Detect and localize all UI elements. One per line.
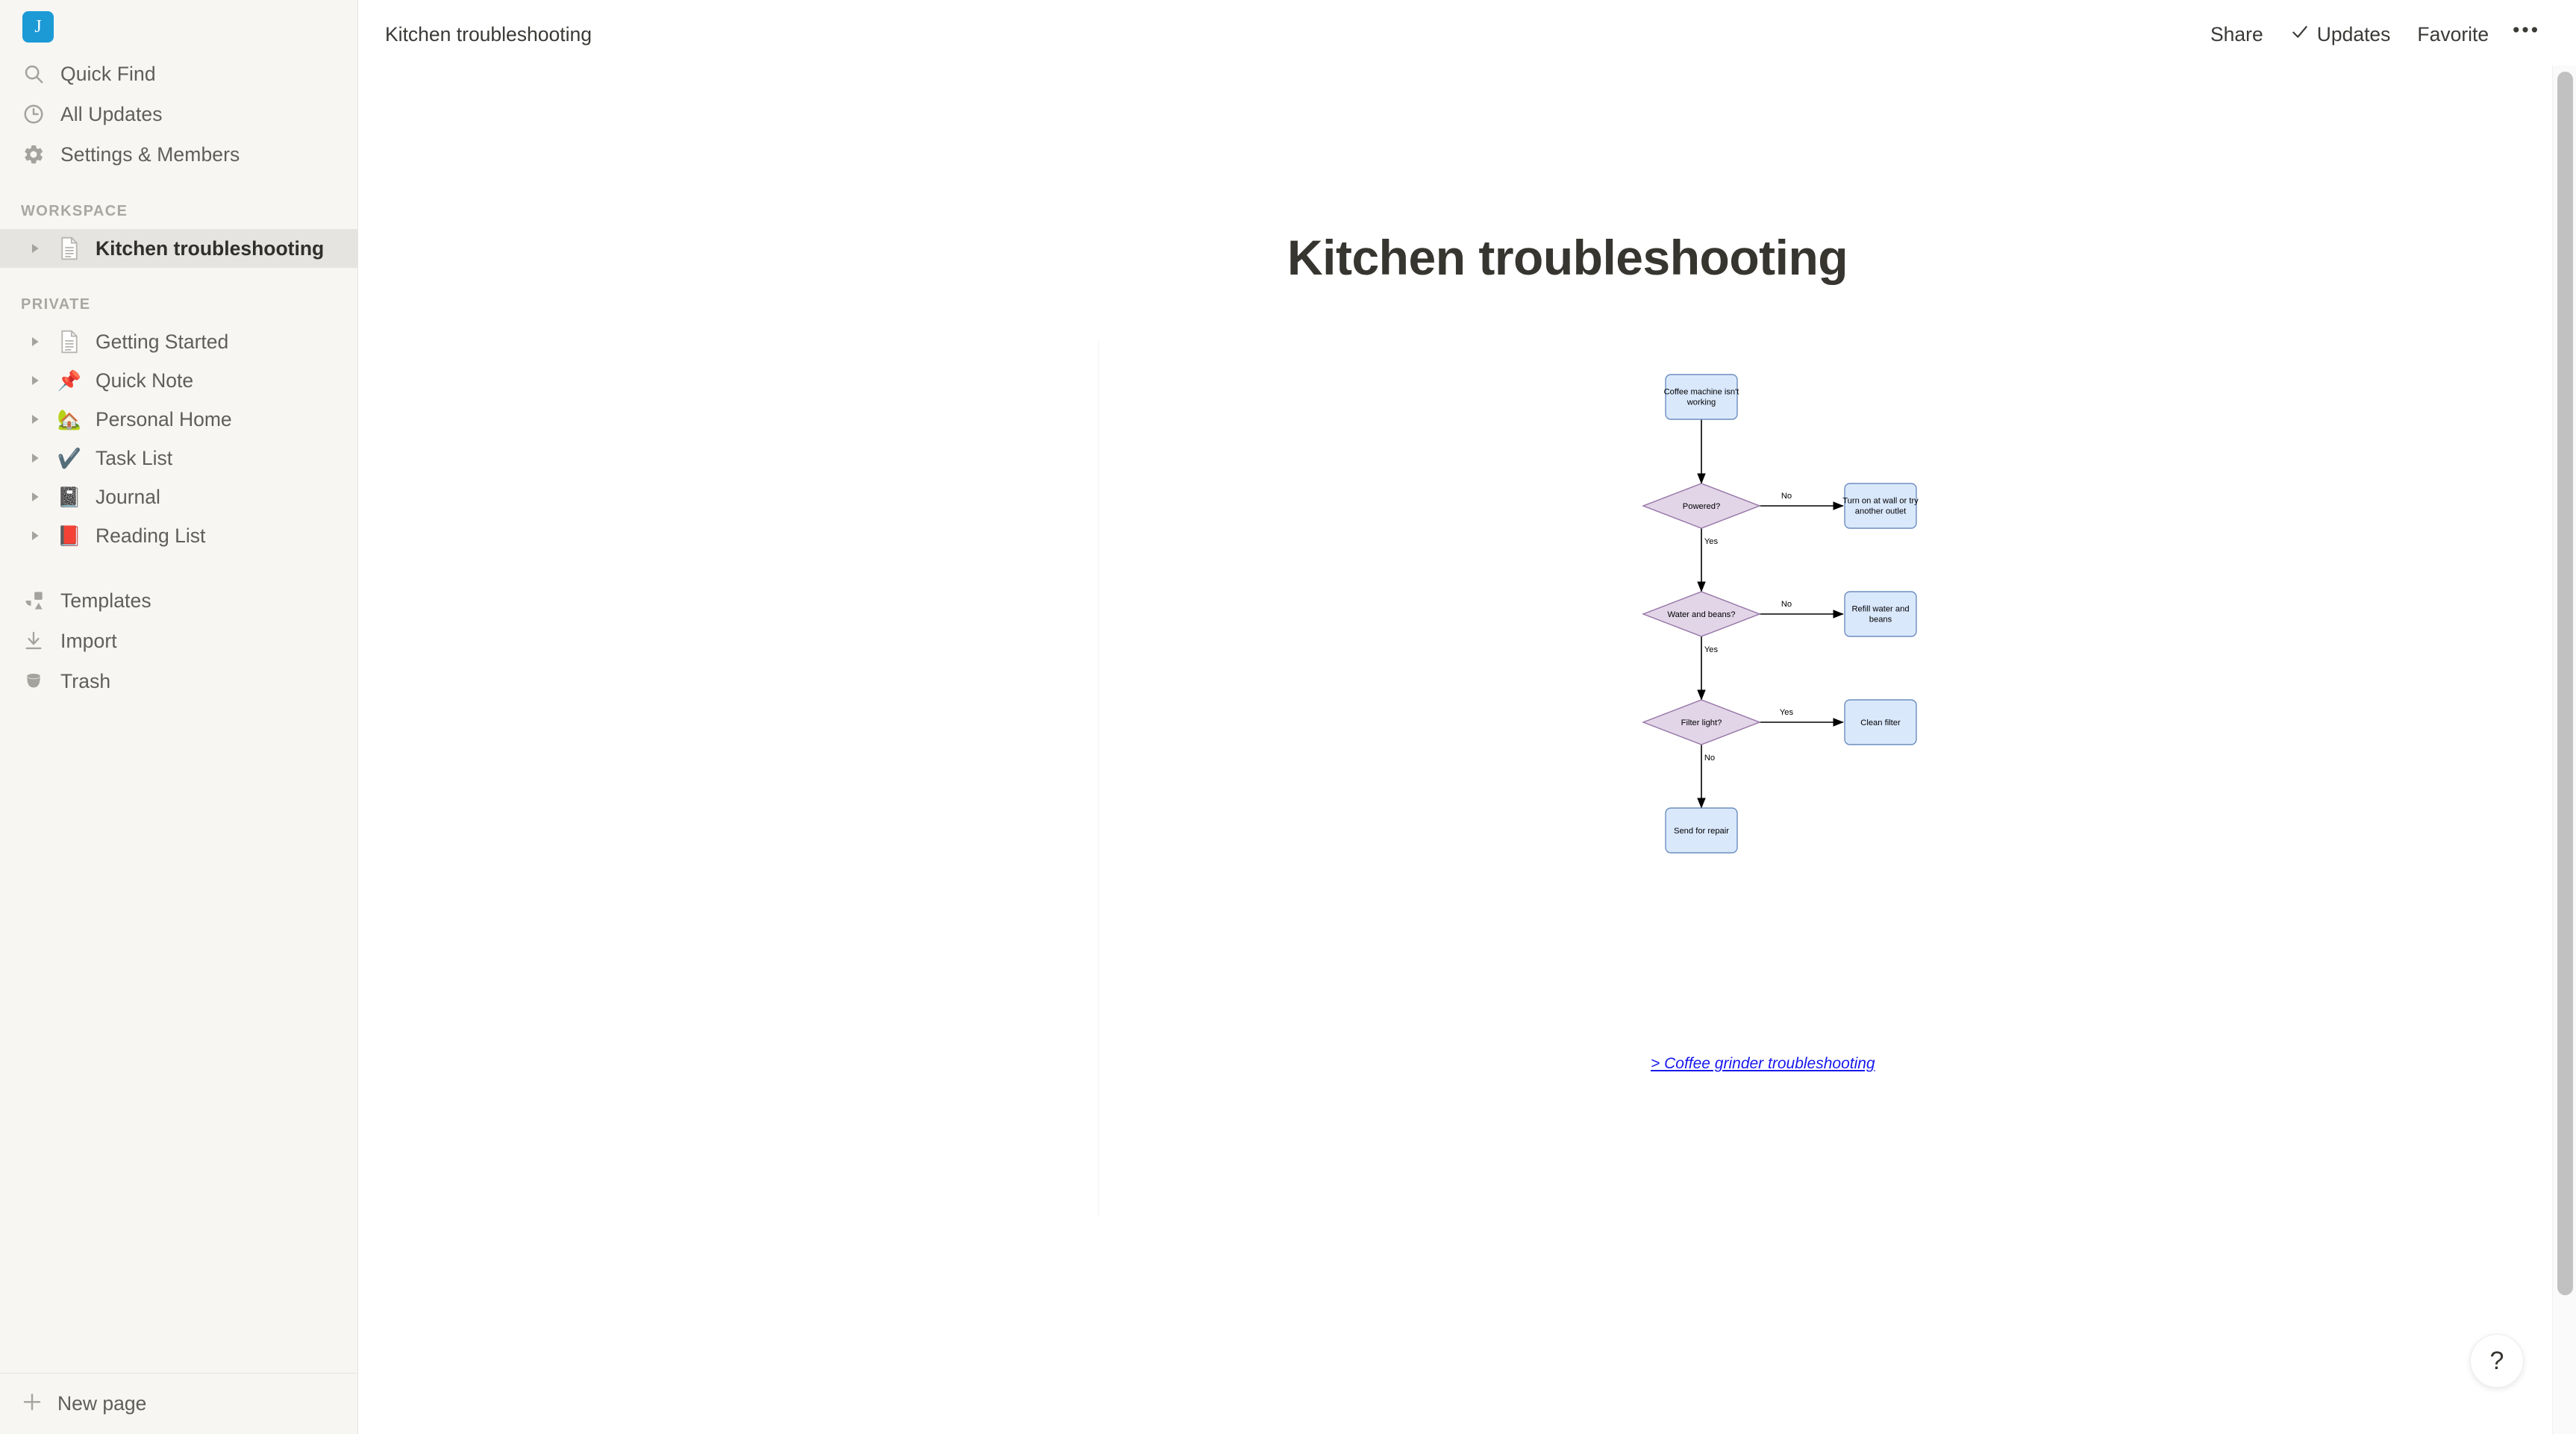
sidebar-item-reading-list[interactable]: 📕 Reading List	[0, 516, 357, 555]
import-icon	[21, 628, 46, 654]
chevron-right-icon[interactable]	[27, 489, 43, 505]
node-refill-label-line2: beans	[1869, 616, 1892, 624]
favorite-label: Favorite	[2417, 23, 2489, 46]
node-start-label-line1: Coffee machine isn't	[1664, 388, 1740, 397]
edge-label-filter-no: No	[1704, 754, 1715, 763]
topbar-actions: Share Updates Favorite •••	[2197, 0, 2551, 69]
node-clean-filter-label: Clean filter	[1860, 718, 1901, 727]
scrollbar-thumb[interactable]	[2557, 72, 2573, 1295]
chevron-right-icon[interactable]	[27, 527, 43, 544]
document-icon	[55, 328, 84, 356]
sidebar-item-all-updates[interactable]: All Updates	[0, 94, 357, 134]
document-icon	[55, 234, 84, 263]
node-refill-water-and-beans[interactable]	[1845, 592, 1916, 636]
sidebar-item-journal[interactable]: 📓 Journal	[0, 478, 357, 516]
sidebar-item-label: Reading List	[96, 525, 205, 548]
trash-icon	[21, 669, 46, 694]
favorite-button[interactable]: Favorite	[2404, 19, 2502, 51]
sidebar-item-label: Settings & Members	[60, 143, 240, 166]
sidebar-item-personal-home[interactable]: 🏡 Personal Home	[0, 400, 357, 439]
node-start[interactable]	[1666, 375, 1737, 419]
chevron-right-icon[interactable]	[27, 411, 43, 428]
breadcrumb[interactable]: Kitchen troubleshooting	[385, 23, 592, 46]
check-mark-icon: ✔️	[55, 444, 84, 472]
notebook-icon: 📓	[55, 483, 84, 511]
more-options-icon[interactable]: •••	[2502, 22, 2551, 48]
chevron-right-icon[interactable]	[27, 450, 43, 466]
sidebar-item-trash[interactable]: Trash	[0, 661, 357, 701]
check-icon	[2290, 22, 2310, 47]
new-page-button[interactable]: New page	[0, 1373, 357, 1434]
sidebar-item-getting-started[interactable]: Getting Started	[0, 322, 357, 361]
templates-icon	[21, 588, 46, 613]
help-button[interactable]: ?	[2470, 1334, 2524, 1388]
node-outlet-label-line2: another outlet	[1855, 507, 1907, 516]
edge-label-powered-no: No	[1781, 492, 1792, 501]
node-turn-on-at-wall[interactable]	[1845, 483, 1916, 528]
edge-label-filter-yes: Yes	[1780, 708, 1794, 717]
plus-icon	[21, 1391, 43, 1417]
sidebar-item-label: Journal	[96, 486, 160, 509]
sidebar-item-quick-find[interactable]: Quick Find	[0, 54, 357, 94]
sidebar-item-label: Quick Find	[60, 63, 156, 86]
scrollbar-track[interactable]	[2552, 66, 2576, 1434]
node-send-for-repair-label: Send for repair	[1674, 827, 1729, 836]
sidebar: J Quick Find All Updates	[0, 0, 358, 1434]
workspace-avatar[interactable]: J	[22, 11, 54, 43]
updates-label: Updates	[2317, 23, 2391, 46]
sidebar-item-label: Personal Home	[96, 408, 232, 431]
node-refill-label-line1: Refill water and	[1851, 605, 1909, 614]
sidebar-item-settings-members[interactable]: Settings & Members	[0, 134, 357, 175]
node-powered-label: Powered?	[1683, 502, 1720, 511]
gear-icon	[21, 142, 46, 167]
sidebar-item-import[interactable]: Import	[0, 621, 357, 661]
sidebar-section-workspace-header: WORKSPACE	[0, 203, 357, 220]
flowchart-image[interactable]: Coffee machine isn't working Powered? No…	[1589, 358, 2052, 1030]
search-icon	[21, 61, 46, 87]
sidebar-section-private-header: PRIVATE	[0, 296, 357, 313]
main-content: Kitchen troubleshooting Share Updates Fa…	[358, 0, 2576, 1434]
sidebar-item-label: Kitchen troubleshooting	[96, 237, 324, 260]
workspace-switcher[interactable]: J	[0, 0, 357, 54]
sidebar-item-label: All Updates	[60, 103, 163, 126]
page-title[interactable]: Kitchen troubleshooting	[1287, 229, 1848, 286]
share-button[interactable]: Share	[2197, 19, 2277, 51]
edge-label-water-no: No	[1781, 600, 1792, 609]
sidebar-item-label: Templates	[60, 589, 151, 613]
sidebar-item-templates[interactable]: Templates	[0, 580, 357, 621]
new-page-label: New page	[57, 1392, 146, 1415]
updates-button[interactable]: Updates	[2277, 18, 2404, 51]
edge-label-powered-yes: Yes	[1704, 537, 1719, 546]
sidebar-item-label: Getting Started	[96, 331, 228, 354]
sidebar-item-kitchen-troubleshooting[interactable]: Kitchen troubleshooting	[0, 229, 357, 268]
node-water-label: Water and beans?	[1667, 610, 1735, 619]
sidebar-item-label: Trash	[60, 670, 110, 693]
chevron-right-icon[interactable]	[27, 334, 43, 350]
edge-label-water-yes: Yes	[1704, 645, 1719, 654]
page-link-coffee-grinder[interactable]: > Coffee grinder troubleshooting	[1651, 1055, 1875, 1073]
sidebar-item-label: Quick Note	[96, 369, 193, 392]
pushpin-icon: 📌	[55, 366, 84, 395]
sidebar-spacer	[0, 555, 357, 580]
node-filter-label: Filter light?	[1681, 718, 1722, 727]
sidebar-item-task-list[interactable]: ✔️ Task List	[0, 439, 357, 478]
share-label: Share	[2210, 23, 2263, 46]
block-guide-line	[1098, 342, 1099, 1217]
app-root: J Quick Find All Updates	[0, 0, 2576, 1434]
top-bar: Kitchen troubleshooting Share Updates Fa…	[358, 0, 2576, 69]
closed-book-icon: 📕	[55, 522, 84, 550]
sidebar-item-label: Task List	[96, 447, 172, 470]
node-start-label-line2: working	[1686, 398, 1716, 407]
clock-icon	[21, 101, 46, 127]
sidebar-item-label: Import	[60, 630, 117, 653]
node-outlet-label-line1: Turn on at wall or try	[1842, 497, 1919, 506]
sidebar-item-quick-note[interactable]: 📌 Quick Note	[0, 361, 357, 400]
chevron-right-icon[interactable]	[27, 240, 43, 257]
house-with-garden-icon: 🏡	[55, 405, 84, 433]
chevron-right-icon[interactable]	[27, 372, 43, 389]
